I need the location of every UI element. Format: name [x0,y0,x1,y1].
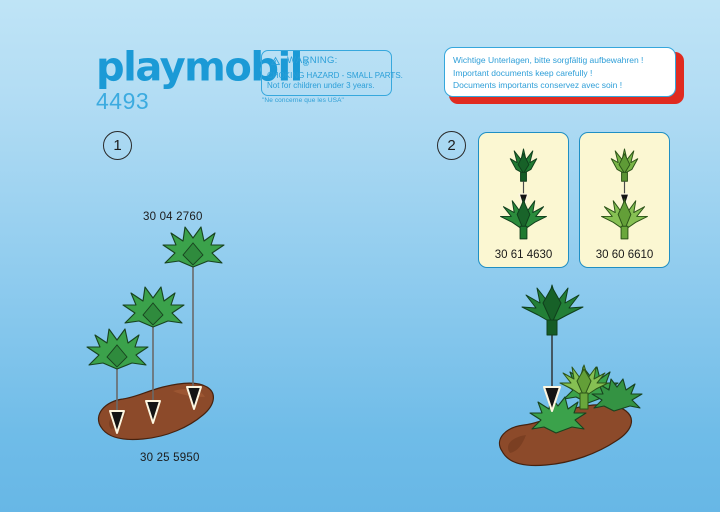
part-label-light-palm: 30 60 6610 [580,249,669,261]
step-1-badge: 1 [103,131,132,160]
warning-footnote: "Ne concerne que les USA" [262,97,344,104]
warning-line-1: CHOKING HAZARD - SMALL PARTS. [267,71,386,81]
documents-notice-box: Wichtige Unterlagen, bitte sorgfältig au… [444,47,676,97]
step-2-badge: 2 [437,131,466,160]
step-1-illustration [75,215,285,465]
warning-line-2: Not for children under 3 years. [267,81,386,91]
documents-notice: Wichtige Unterlagen, bitte sorgfältig au… [444,47,679,100]
dark-green-palm-illustration [479,139,568,243]
part-box-dark-palm: 30 61 4630 [478,132,569,268]
warning-triangle-icon [271,57,280,65]
part-box-light-palm: 30 60 6610 [579,132,670,268]
documents-line-fr: Documents importants conservez avec soin… [453,79,667,92]
warning-title: WARNING: [287,55,338,66]
step-2-artwork [480,275,695,490]
part-label-dark-palm: 30 61 4630 [479,249,568,261]
instruction-sheet: playmobil® 4493 WARNING: CHOKING HAZARD … [0,0,720,512]
documents-line-de: Wichtige Unterlagen, bitte sorgfältig au… [453,54,667,67]
light-green-palm-illustration [580,139,669,243]
warning-box: WARNING: CHOKING HAZARD - SMALL PARTS. N… [261,50,392,96]
documents-line-en: Important documents keep carefully ! [453,67,667,80]
warning-header: WARNING: [267,55,386,66]
step-1-artwork [75,215,285,465]
step-2-illustration [480,275,695,490]
